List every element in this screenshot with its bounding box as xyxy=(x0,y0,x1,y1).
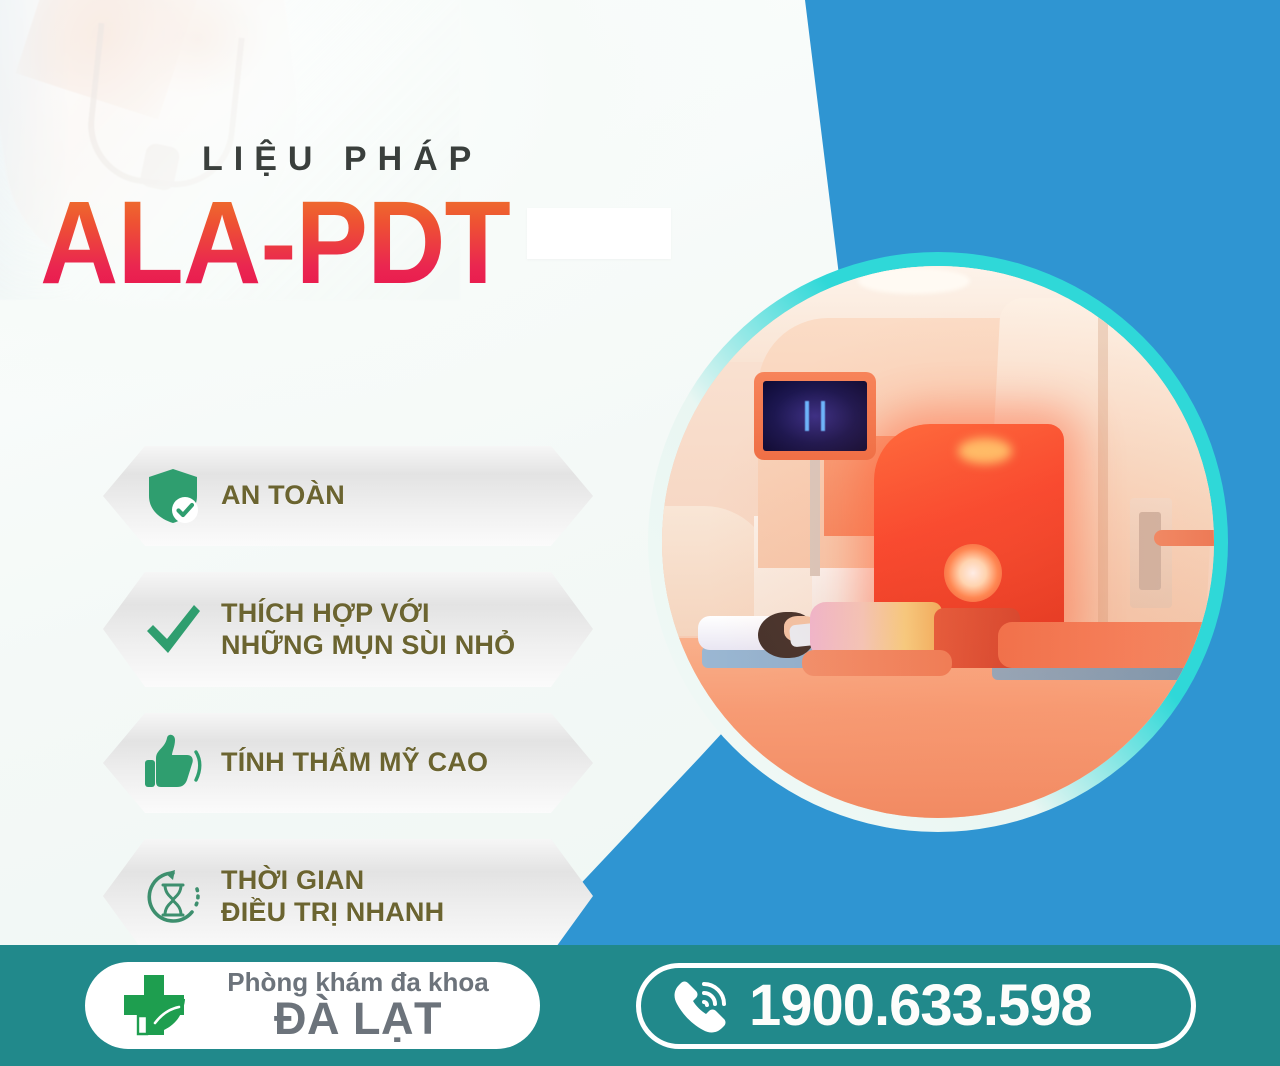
feature-badge-line1: THÍCH HỢP VỚI xyxy=(221,598,430,628)
photo-red-glow xyxy=(958,438,1012,464)
photo-patient-legs xyxy=(998,622,1214,668)
feature-badge-label: THÍCH HỢP VỚI NHỮNG MỤN SÙI NHỎ xyxy=(221,598,515,662)
hotline-number: 1900.633.598 xyxy=(749,977,1092,1035)
feature-badge-line1: AN TOÀN xyxy=(221,480,345,510)
feature-badge-line2: ĐIỀU TRỊ NHANH xyxy=(221,897,444,929)
feature-badge-line1: THỜI GIAN xyxy=(221,865,364,895)
wordmark-row: ALA-PDT xyxy=(40,184,660,304)
photo-monitor-screen xyxy=(763,381,867,451)
photo-machine-column-edge xyxy=(1098,300,1108,630)
photo-ceiling-light xyxy=(858,268,970,294)
thumbs-up-icon xyxy=(125,734,221,792)
shield-check-icon xyxy=(125,466,221,526)
photo-patient-arm xyxy=(802,650,952,676)
treatment-photo-ring xyxy=(648,252,1228,832)
feature-badge-line2: NHỮNG MỤN SÙI NHỎ xyxy=(221,630,515,662)
photo-emitter-disc xyxy=(944,544,1002,602)
redaction-box xyxy=(527,208,671,259)
clinic-subtitle: Phòng khám đa khoa xyxy=(203,969,513,996)
hotline-pill[interactable]: 1900.633.598 xyxy=(636,963,1196,1049)
feature-badge-line1: TÍNH THẨM MỸ CAO xyxy=(221,747,488,777)
check-mark-icon xyxy=(125,601,221,659)
clinic-name: ĐÀ LẠT xyxy=(203,996,513,1042)
photo-monitor xyxy=(754,372,876,460)
feature-badge-thoi-gian[interactable]: THỜI GIAN ĐIỀU TRỊ NHANH xyxy=(103,839,593,954)
feature-badge-an-toan[interactable]: AN TOÀN xyxy=(103,446,593,546)
green-cross-leaf-icon xyxy=(111,969,197,1043)
phone-ringing-icon xyxy=(667,977,733,1035)
feature-badge-label: AN TOÀN xyxy=(221,480,345,512)
photo-monitor-arm xyxy=(810,446,820,576)
clinic-logo-pill[interactable]: Phòng khám đa khoa ĐÀ LẠT xyxy=(85,962,540,1049)
headline-wordmark: ALA-PDT xyxy=(40,184,510,302)
headline-kicker: LIỆU PHÁP xyxy=(202,142,660,176)
feature-badge-thich-hop[interactable]: THÍCH HỢP VỚI NHỮNG MỤN SÙI NHỎ xyxy=(103,572,593,687)
treatment-photo xyxy=(662,266,1214,818)
footer-bar: Phòng khám đa khoa ĐÀ LẠT 1900.633.598 xyxy=(0,945,1280,1066)
photo-side-slot xyxy=(1139,512,1161,590)
feature-badge-label: TÍNH THẨM MỸ CAO xyxy=(221,747,488,779)
photo-side-tube xyxy=(1154,530,1214,546)
headline-block: LIỆU PHÁP ALA-PDT xyxy=(40,142,660,304)
time-hourglass-icon xyxy=(125,867,221,927)
clinic-logo-text: Phòng khám đa khoa ĐÀ LẠT xyxy=(203,969,513,1042)
feature-badge-list: AN TOÀN THÍCH HỢP VỚI NHỮNG MỤN SÙI NHỎ xyxy=(103,446,593,980)
feature-badge-tham-my[interactable]: TÍNH THẨM MỸ CAO xyxy=(103,713,593,813)
ala-pdt-promo-banner: LIỆU PHÁP ALA-PDT AN TOÀN xyxy=(0,0,1280,1066)
feature-badge-label: THỜI GIAN ĐIỀU TRỊ NHANH xyxy=(221,865,444,929)
